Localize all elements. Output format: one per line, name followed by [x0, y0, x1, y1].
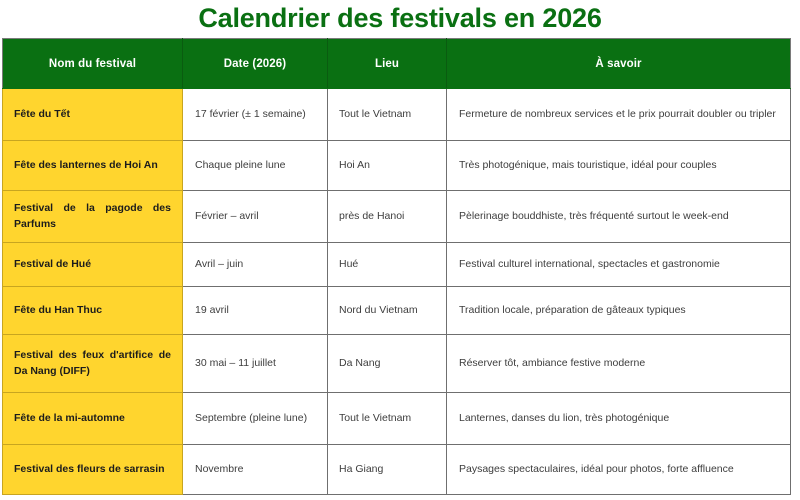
cell-festival-name: Fête du Tết: [3, 89, 183, 141]
cell-festival-date: 30 mai – 11 juillet: [183, 335, 328, 393]
column-header-a-savoir: À savoir: [447, 39, 791, 89]
table-row: Fête du Tết 17 février (± 1 semaine) Tou…: [3, 89, 791, 141]
cell-festival-name: Festival de la pagode des Parfums: [3, 191, 183, 243]
cell-festival-info: Festival culturel international, spectac…: [447, 243, 791, 287]
cell-festival-place: Tout le Vietnam: [328, 89, 447, 141]
cell-festival-info: Tradition locale, préparation de gâteaux…: [447, 287, 791, 335]
table-row: Fête de la mi-automne Septembre (pleine …: [3, 393, 791, 445]
cell-festival-date: Avril – juin: [183, 243, 328, 287]
cell-festival-info: Paysages spectaculaires, idéal pour phot…: [447, 445, 791, 495]
cell-festival-date: 19 avril: [183, 287, 328, 335]
page-title: Calendrier des festivals en 2026: [0, 0, 800, 38]
table-header: Nom du festival Date (2026) Lieu À savoi…: [3, 39, 791, 89]
cell-festival-info: Très photogénique, mais touristique, idé…: [447, 141, 791, 191]
cell-festival-name: Festival des feux d'artifice de Da Nang …: [3, 335, 183, 393]
festival-calendar-page: Calendrier des festivals en 2026 Nom du …: [0, 0, 800, 500]
cell-festival-name: Festival de Hué: [3, 243, 183, 287]
table-body: Fête du Tết 17 février (± 1 semaine) Tou…: [3, 89, 791, 495]
cell-festival-date: 17 février (± 1 semaine): [183, 89, 328, 141]
column-header-date: Date (2026): [183, 39, 328, 89]
cell-festival-name: Festival des fleurs de sarrasin: [3, 445, 183, 495]
cell-festival-name: Fête de la mi-automne: [3, 393, 183, 445]
cell-festival-name: Fête des lanternes de Hoi An: [3, 141, 183, 191]
cell-festival-date: Septembre (pleine lune): [183, 393, 328, 445]
table-row: Fête du Han Thuc 19 avril Nord du Vietna…: [3, 287, 791, 335]
table-row: Festival de Hué Avril – juin Hué Festiva…: [3, 243, 791, 287]
cell-festival-place: Da Nang: [328, 335, 447, 393]
table-header-row: Nom du festival Date (2026) Lieu À savoi…: [3, 39, 791, 89]
cell-festival-place: Nord du Vietnam: [328, 287, 447, 335]
cell-festival-place: Hué: [328, 243, 447, 287]
cell-festival-place: Tout le Vietnam: [328, 393, 447, 445]
cell-festival-date: Février – avril: [183, 191, 328, 243]
cell-festival-date: Chaque pleine lune: [183, 141, 328, 191]
cell-festival-info: Lanternes, danses du lion, très photogén…: [447, 393, 791, 445]
table-row: Fête des lanternes de Hoi An Chaque plei…: [3, 141, 791, 191]
column-header-lieu: Lieu: [328, 39, 447, 89]
column-header-nom-du-festival: Nom du festival: [3, 39, 183, 89]
cell-festival-date: Novembre: [183, 445, 328, 495]
table-row: Festival des fleurs de sarrasin Novembre…: [3, 445, 791, 495]
table-row: Festival des feux d'artifice de Da Nang …: [3, 335, 791, 393]
cell-festival-info: Réserver tôt, ambiance festive moderne: [447, 335, 791, 393]
cell-festival-place: près de Hanoi: [328, 191, 447, 243]
cell-festival-name: Fête du Han Thuc: [3, 287, 183, 335]
table-row: Festival de la pagode des Parfums Févrie…: [3, 191, 791, 243]
cell-festival-info: Pèlerinage bouddhiste, très fréquenté su…: [447, 191, 791, 243]
cell-festival-place: Hoi An: [328, 141, 447, 191]
festival-table-container: Nom du festival Date (2026) Lieu À savoi…: [2, 38, 790, 494]
cell-festival-place: Ha Giang: [328, 445, 447, 495]
festival-table: Nom du festival Date (2026) Lieu À savoi…: [2, 38, 791, 495]
cell-festival-info: Fermeture de nombreux services et le pri…: [447, 89, 791, 141]
